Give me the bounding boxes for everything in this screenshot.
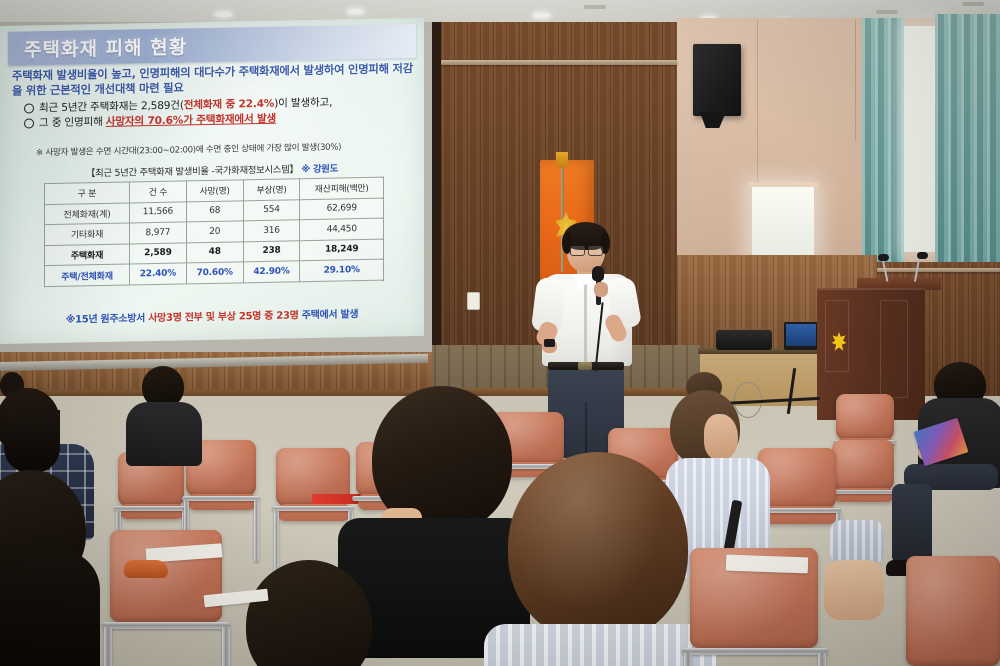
bullet-2-pre: 그 중 인명피해 bbox=[39, 116, 106, 129]
bullet-ring-icon bbox=[24, 103, 34, 113]
presentation-remote-icon[interactable] bbox=[544, 339, 555, 347]
col-header-2: 사망(명) bbox=[186, 180, 243, 202]
wall-rail bbox=[877, 268, 1000, 272]
monitor-screen bbox=[786, 324, 816, 346]
presentation-room-photo: 주택화재 피해 현황 주택화재 발생비율이 높고, 인명피해의 대다수가 주택화… bbox=[0, 0, 1000, 666]
cell-r2c0: 주택화재 bbox=[45, 244, 130, 266]
wall-speaker-icon bbox=[693, 44, 741, 116]
col-header-4: 재산피해(백만) bbox=[300, 177, 384, 199]
handout-paper[interactable] bbox=[726, 555, 809, 574]
cell-r2c3: 238 bbox=[243, 240, 300, 262]
slide-bullet-list: 최근 5년간 주택화재는 2,589건(전체화재 중 22.4%)이 발생하고,… bbox=[24, 94, 416, 132]
ceiling-light-icon bbox=[347, 9, 364, 14]
footer-pre: ※15년 원주소방서 bbox=[66, 313, 149, 326]
eyeglass-lens-icon bbox=[570, 246, 585, 256]
cell-r0c3: 554 bbox=[243, 199, 300, 221]
projection-screen: 주택화재 피해 현황 주택화재 발생비율이 높고, 인명피해의 대다수가 주택화… bbox=[0, 22, 432, 352]
doorway-header bbox=[748, 182, 818, 187]
ceiling-light-icon bbox=[533, 13, 550, 18]
shoe bbox=[124, 560, 168, 578]
cell-r0c4: 62,699 bbox=[300, 198, 384, 220]
cell-r1c3: 316 bbox=[243, 220, 300, 242]
trouser-seam bbox=[585, 402, 587, 458]
head bbox=[508, 452, 688, 642]
cell-r0c0: 전체화재(계) bbox=[45, 203, 130, 225]
projector-icon bbox=[716, 330, 772, 350]
cell-r3c2: 70.60% bbox=[186, 262, 243, 284]
face bbox=[704, 414, 738, 460]
bullet-1-highlight: 전체화재 중 22.4% bbox=[184, 98, 274, 112]
col-header-1: 건 수 bbox=[130, 181, 187, 203]
cell-r3c0: 주택/전체화재 bbox=[45, 264, 130, 286]
doorway-window bbox=[752, 186, 814, 258]
bullet-ring-icon bbox=[24, 118, 34, 128]
cell-r3c1: 22.40% bbox=[130, 263, 187, 285]
slide-lead-text: 주택화재 발생비율이 높고, 인명피해의 대다수가 주택화재에서 발생하여 인명… bbox=[12, 62, 414, 99]
col-header-0: 구 분 bbox=[45, 182, 130, 204]
wall-rail bbox=[441, 60, 677, 65]
flag-tassel bbox=[556, 152, 568, 168]
cell-r1c0: 기타화재 bbox=[45, 223, 130, 245]
presenter-hand-right bbox=[594, 282, 608, 297]
cell-r3c3: 42.90% bbox=[243, 261, 300, 283]
microphone-icon bbox=[592, 266, 604, 281]
cell-r1c1: 8,977 bbox=[130, 222, 187, 244]
leg-lower bbox=[892, 484, 932, 564]
curtain-left bbox=[862, 18, 904, 270]
cell-r0c1: 11,566 bbox=[130, 202, 187, 224]
belt-buckle-icon bbox=[578, 362, 592, 370]
cell-r2c2: 48 bbox=[186, 242, 243, 264]
bullet-2-highlight: 사망자의 70.6%가 주택화재에서 발생 bbox=[106, 113, 276, 128]
podium-microphone-icon bbox=[917, 252, 928, 259]
eyeglass-lens-icon bbox=[588, 246, 603, 256]
bullet-1-post: )이 발생하고, bbox=[274, 97, 332, 110]
fire-statistics-table: 구 분 건 수 사망(명) 부상(명) 재산피해(백만) 전체화재(계) 11,… bbox=[44, 177, 384, 287]
torso bbox=[484, 624, 716, 666]
slide-title: 주택화재 피해 현황 bbox=[24, 32, 187, 62]
table-footer-note: ※15년 원주소방서 사망3명 전부 및 부상 25명 중 23명 주택에서 발… bbox=[0, 304, 424, 327]
slide-footnote: ※ 사망자 발생은 수면 시간대(23:00~02:00)에 수면 중인 상태에… bbox=[36, 139, 422, 158]
cell-r1c4: 44,450 bbox=[300, 218, 384, 240]
table-caption-province: ※ 강원도 bbox=[301, 164, 338, 176]
cell-r2c1: 2,589 bbox=[130, 243, 187, 265]
shoulders bbox=[0, 550, 100, 666]
footer-red: 사망3명 전부 및 부상 25명 중 23명 bbox=[148, 310, 298, 324]
bullet-1-pre: 최근 5년간 주택화재는 2,589건( bbox=[39, 99, 184, 114]
long-hair bbox=[4, 410, 60, 472]
cell-r0c2: 68 bbox=[186, 200, 243, 222]
torso bbox=[126, 402, 202, 466]
ceiling-vent-icon bbox=[962, 2, 984, 6]
ceiling-vent-icon bbox=[876, 10, 898, 14]
window bbox=[904, 26, 938, 252]
screen-surface: 주택화재 피해 현황 주택화재 발생비율이 높고, 인명피해의 대다수가 주택화… bbox=[0, 18, 424, 344]
table-caption-text: 【최근 5년간 주택화재 발생비율 -국가화재정보시스템】 bbox=[86, 164, 298, 179]
wall-seam bbox=[855, 20, 856, 140]
leg bbox=[824, 560, 884, 620]
podium-panel-left bbox=[825, 300, 849, 372]
footer-post: 주택에서 발생 bbox=[299, 309, 359, 321]
ceiling-light-icon bbox=[215, 12, 232, 17]
cell-r2c4: 18,249 bbox=[300, 239, 384, 261]
podium-microphone-icon bbox=[878, 254, 889, 261]
presentation-slide: 주택화재 피해 현황 주택화재 발생비율이 높고, 인명피해의 대다수가 주택화… bbox=[0, 18, 424, 344]
cell-r3c4: 29.10% bbox=[300, 259, 384, 281]
ceiling-vent-icon bbox=[584, 5, 606, 9]
shirt-placket bbox=[584, 284, 587, 364]
col-header-3: 부상(명) bbox=[243, 179, 300, 201]
light-switch-icon[interactable] bbox=[467, 292, 480, 310]
curtain-right bbox=[935, 14, 1000, 282]
cell-r1c2: 20 bbox=[186, 221, 243, 243]
podium-panel-right bbox=[880, 300, 908, 398]
sleeve bbox=[830, 520, 884, 564]
flag-pole bbox=[561, 152, 564, 272]
